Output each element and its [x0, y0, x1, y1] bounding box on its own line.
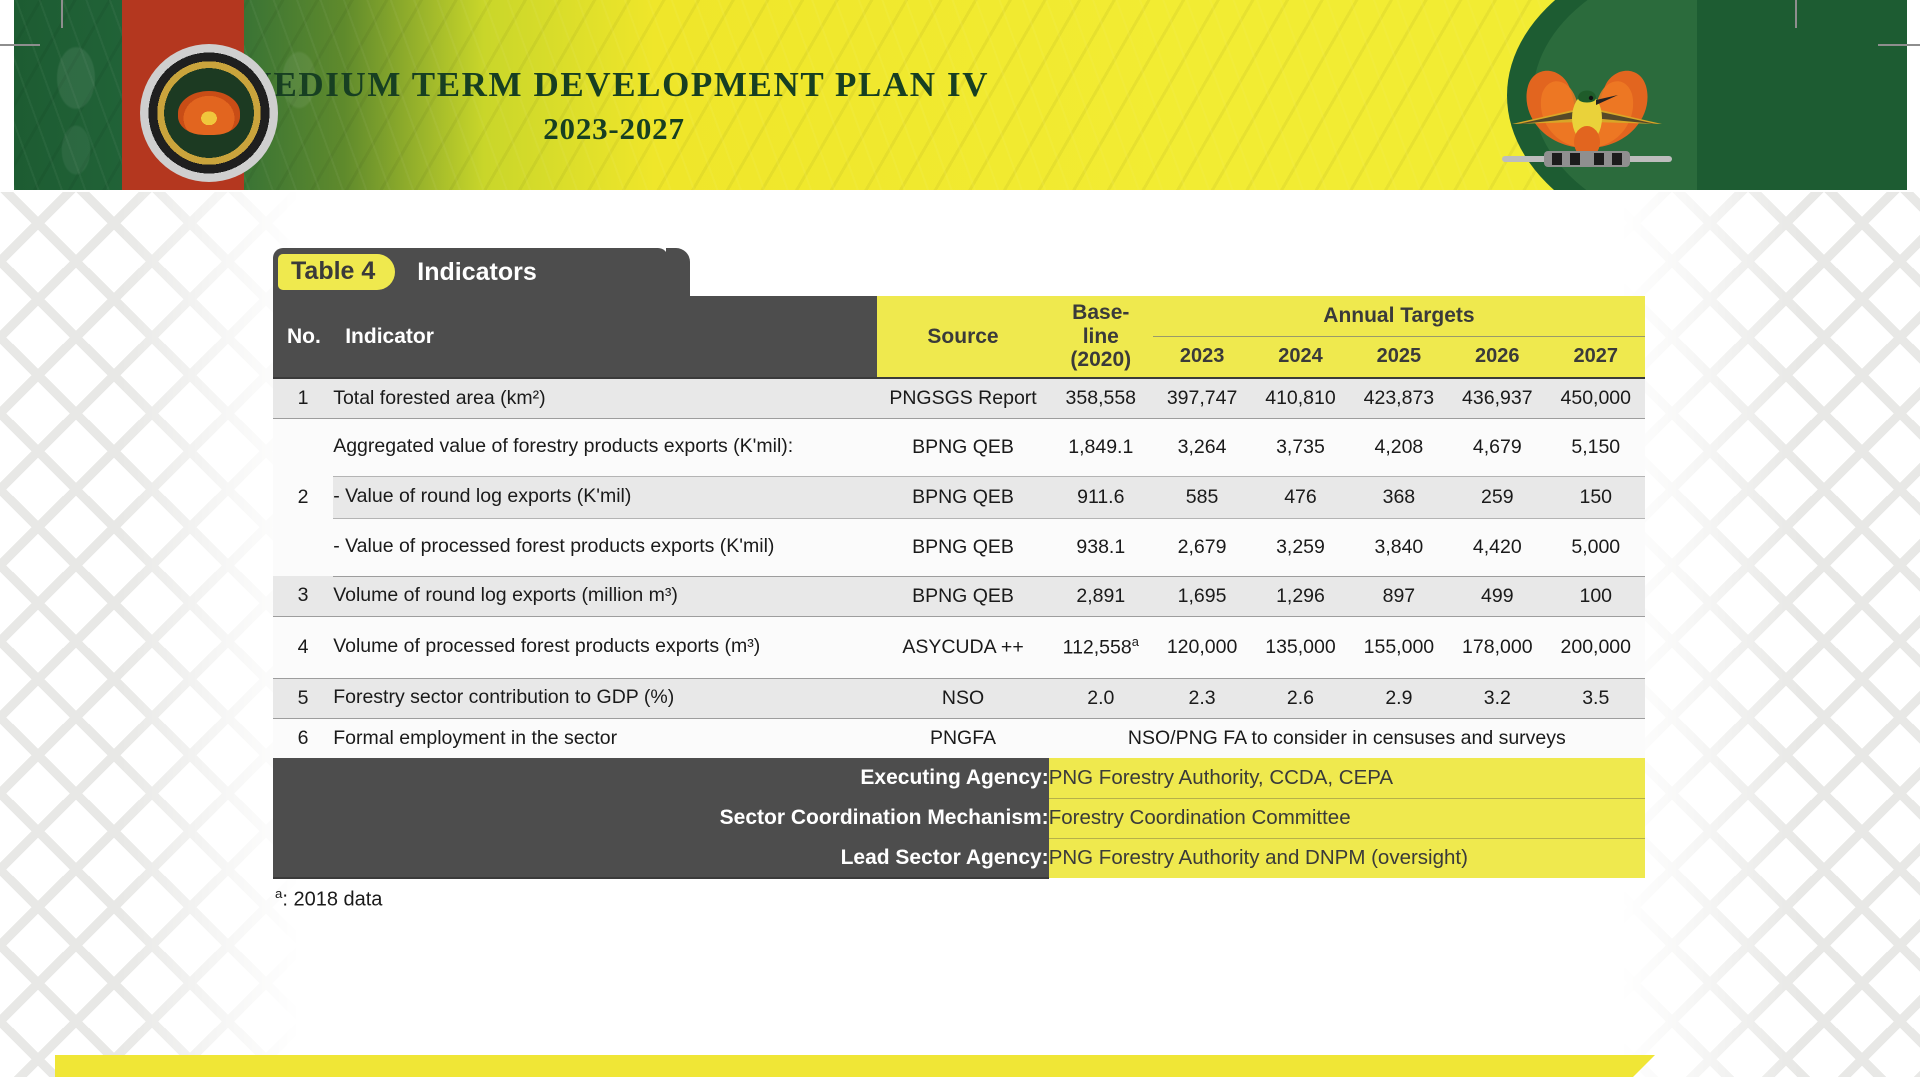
banner-right-green-block	[1697, 0, 1907, 190]
footer-value: Forestry Coordination Committee	[1049, 798, 1645, 838]
footer-value: PNG Forestry Authority, CCDA, CEPA	[1049, 758, 1645, 798]
header-baseline-line3: (2020)	[1049, 348, 1153, 372]
row-target-2026: 178,000	[1448, 616, 1546, 678]
header-baseline-line2: line	[1049, 325, 1153, 349]
indicators-table: No. Indicator Source Base- line (2020) A…	[273, 296, 1645, 879]
row-target-2027: 100	[1547, 576, 1646, 616]
row-target-2027: 5,150	[1547, 418, 1646, 476]
footnote-ref: a	[1132, 634, 1139, 649]
row-baseline: 938.1	[1049, 518, 1153, 576]
footer-row-executing-agency: Executing Agency: PNG Forestry Authority…	[273, 758, 1645, 798]
row-target-2023: 3,264	[1153, 418, 1251, 476]
row-baseline: 1,849.1	[1049, 418, 1153, 476]
row-target-2027: 150	[1547, 476, 1646, 518]
table-row: 4 Volume of processed forest products ex…	[273, 616, 1645, 678]
row-baseline-value: 112,558	[1063, 637, 1132, 659]
row-target-2026: 259	[1448, 476, 1546, 518]
row-target-2024: 476	[1251, 476, 1349, 518]
row-no: 1	[273, 378, 333, 418]
header-year-2025: 2025	[1350, 336, 1448, 378]
table-row: - Value of processed forest products exp…	[273, 518, 1645, 576]
table-row: 2 Aggregated value of forestry products …	[273, 418, 1645, 476]
row-target-2027: 450,000	[1547, 378, 1646, 418]
row-source: NSO	[877, 678, 1048, 718]
row-target-2024: 410,810	[1251, 378, 1349, 418]
row-no: 6	[273, 718, 333, 758]
row-source: PNGFA	[877, 718, 1048, 758]
table-caption-title: Indicators	[417, 258, 536, 287]
row-target-2023: 2.3	[1153, 678, 1251, 718]
row-no: 4	[273, 616, 333, 678]
row-target-2023: 1,695	[1153, 576, 1251, 616]
footer-label: Lead Sector Agency:	[273, 838, 1049, 878]
table-header-row-1: No. Indicator Source Base- line (2020) A…	[273, 296, 1645, 336]
row-target-2023: 120,000	[1153, 616, 1251, 678]
header-source: Source	[877, 296, 1048, 378]
row-no: 3	[273, 576, 333, 616]
row-target-2023: 397,747	[1153, 378, 1251, 418]
row-target-2025: 4,208	[1350, 418, 1448, 476]
row-target-2026: 4,679	[1448, 418, 1546, 476]
footer-value: PNG Forestry Authority and DNPM (oversig…	[1049, 838, 1645, 878]
footer-row-lead-agency: Lead Sector Agency: PNG Forestry Authori…	[273, 838, 1645, 878]
row-indicator: Aggregated value of forestry products ex…	[333, 418, 877, 476]
crop-mark-top-right-horizontal	[1878, 44, 1920, 46]
png-national-seal-emblem	[140, 44, 278, 182]
row-no: 2	[273, 418, 333, 576]
header-indicator: Indicator	[333, 296, 877, 378]
row-indicator: Volume of round log exports (million m³)	[333, 576, 877, 616]
footer-label: Sector Coordination Mechanism:	[273, 798, 1049, 838]
header-annual-targets: Annual Targets	[1153, 296, 1645, 336]
header-year-2024: 2024	[1251, 336, 1349, 378]
header-baseline-line1: Base-	[1049, 301, 1153, 325]
header-no: No.	[273, 296, 333, 378]
row-target-2023: 585	[1153, 476, 1251, 518]
page-banner: MEDIUM TERM DEVELOPMENT PLAN IV 2023-202…	[14, 0, 1907, 190]
row-target-2024: 2.6	[1251, 678, 1349, 718]
row-baseline: 112,558a	[1049, 616, 1153, 678]
row-target-2025: 423,873	[1350, 378, 1448, 418]
header-year-2027: 2027	[1547, 336, 1646, 378]
row-indicator: - Value of processed forest products exp…	[333, 518, 877, 576]
bird-of-paradise-emblem	[1492, 52, 1682, 172]
row-target-2023: 2,679	[1153, 518, 1251, 576]
row-target-2025: 2.9	[1350, 678, 1448, 718]
row-source: BPNG QEB	[877, 576, 1048, 616]
row-source: PNGSGS Report	[877, 378, 1048, 418]
footer-row-coordination-mechanism: Sector Coordination Mechanism: Forestry …	[273, 798, 1645, 838]
row-target-2025: 3,840	[1350, 518, 1448, 576]
row-indicator: - Value of round log exports (K'mil)	[333, 476, 877, 518]
header-year-2026: 2026	[1448, 336, 1546, 378]
crop-mark-top-left-vertical	[61, 0, 63, 28]
table-number-pill: Table 4	[278, 254, 395, 291]
row-target-2025: 897	[1350, 576, 1448, 616]
footer-label: Executing Agency:	[273, 758, 1049, 798]
row-baseline: 2,891	[1049, 576, 1153, 616]
crop-mark-top-right-vertical	[1795, 0, 1797, 28]
footnote-text: : 2018 data	[282, 889, 382, 911]
table-footnote: a: 2018 data	[273, 886, 1645, 912]
row-source: ASYCUDA ++	[877, 616, 1048, 678]
row-target-2024: 1,296	[1251, 576, 1349, 616]
bottom-yellow-accent-bar	[55, 1055, 1655, 1077]
row-target-2025: 155,000	[1350, 616, 1448, 678]
table-row: 1 Total forested area (km²) PNGSGS Repor…	[273, 378, 1645, 418]
row-no: 5	[273, 678, 333, 718]
row-indicator: Formal employment in the sector	[333, 718, 877, 758]
row-source: BPNG QEB	[877, 518, 1048, 576]
row-baseline: 2.0	[1049, 678, 1153, 718]
row-indicator: Total forested area (km²)	[333, 378, 877, 418]
table-row: - Value of round log exports (K'mil) BPN…	[273, 476, 1645, 518]
crop-mark-top-left-horizontal	[0, 44, 40, 46]
row-target-2026: 436,937	[1448, 378, 1546, 418]
table-caption-bar: Table 4 Indicators	[273, 248, 668, 296]
row-source: BPNG QEB	[877, 476, 1048, 518]
row-indicator: Volume of processed forest products expo…	[333, 616, 877, 678]
row-baseline: 911.6	[1049, 476, 1153, 518]
header-baseline: Base- line (2020)	[1049, 296, 1153, 378]
row-source: BPNG QEB	[877, 418, 1048, 476]
row-target-2024: 3,735	[1251, 418, 1349, 476]
row-target-2024: 3,259	[1251, 518, 1349, 576]
document-page: MEDIUM TERM DEVELOPMENT PLAN IV 2023-202…	[0, 0, 1920, 1077]
row-target-2027: 3.5	[1547, 678, 1646, 718]
row-target-2026: 499	[1448, 576, 1546, 616]
row-target-2024: 135,000	[1251, 616, 1349, 678]
row-target-2026: 4,420	[1448, 518, 1546, 576]
row-baseline: 358,558	[1049, 378, 1153, 418]
row-target-2025: 368	[1350, 476, 1448, 518]
row-span-note: NSO/PNG FA to consider in censuses and s…	[1049, 718, 1645, 758]
row-target-2027: 200,000	[1547, 616, 1646, 678]
table-row: 6 Formal employment in the sector PNGFA …	[273, 718, 1645, 758]
header-year-2023: 2023	[1153, 336, 1251, 378]
table-row: 3 Volume of round log exports (million m…	[273, 576, 1645, 616]
indicators-table-container: Table 4 Indicators No. Indicator Source	[273, 248, 1645, 912]
table-row: 5 Forestry sector contribution to GDP (%…	[273, 678, 1645, 718]
row-indicator: Forestry sector contribution to GDP (%)	[333, 678, 877, 718]
row-target-2027: 5,000	[1547, 518, 1646, 576]
row-target-2026: 3.2	[1448, 678, 1546, 718]
